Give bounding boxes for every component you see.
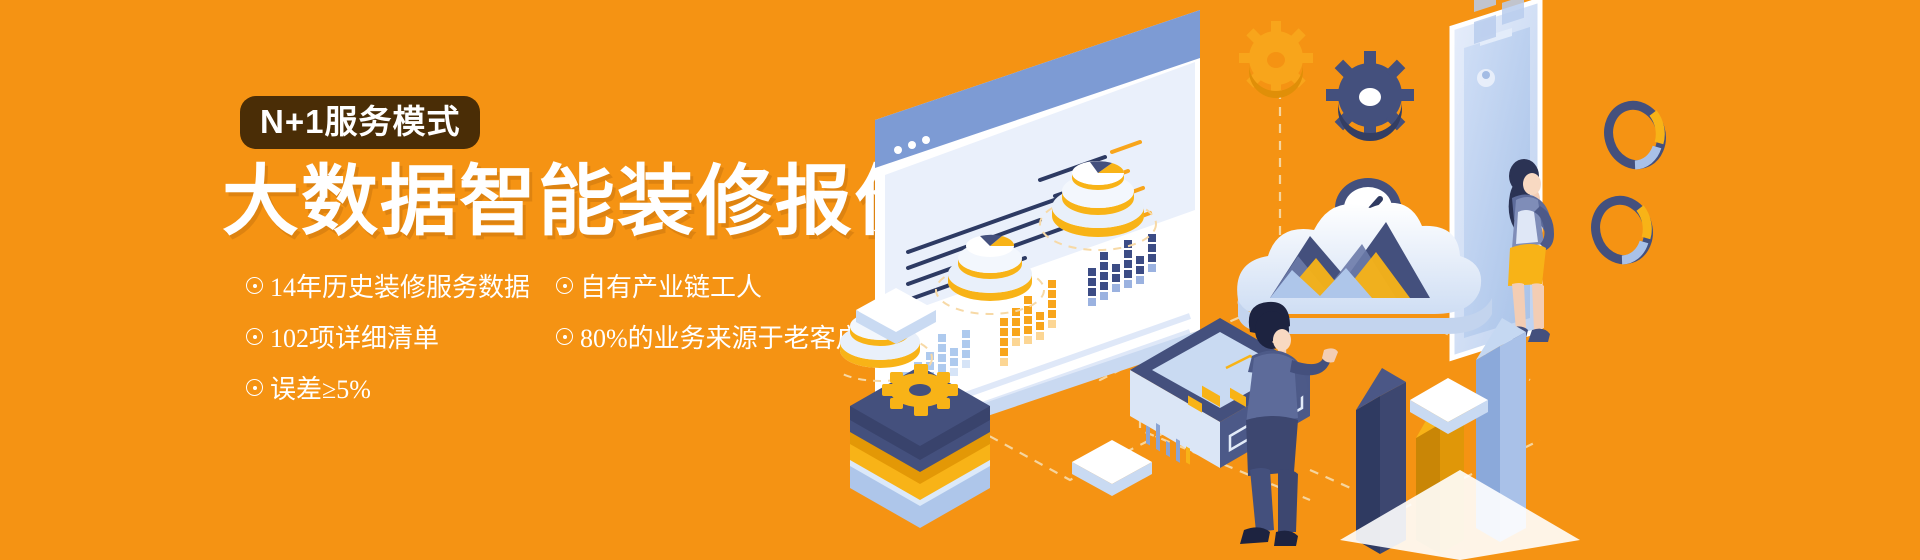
- feature-list-right-column: 自有产业链工人 80%的业务来源于老客户: [556, 275, 862, 377]
- feature-list-left-column: 14年历史装修服务数据 102项详细清单 误差≥5%: [246, 275, 530, 428]
- list-item-label: 自有产业链工人: [580, 275, 762, 301]
- isometric-big-data-illustration: [840, 0, 1920, 560]
- list-item-label: 误差≥5%: [270, 377, 371, 403]
- circled-dot-icon: [246, 328, 263, 345]
- circled-dot-icon: [246, 379, 263, 396]
- donut-ring-arc-upper: [1601, 98, 1669, 171]
- gear-orange: [1239, 21, 1313, 98]
- list-item-label: 14年历史装修服务数据: [270, 275, 530, 301]
- circled-dot-icon: [246, 277, 263, 294]
- donut-ring-arc-lower: [1588, 193, 1656, 266]
- service-model-badge: N+1服务模式: [240, 96, 480, 149]
- list-item: 80%的业务来源于老客户: [556, 326, 862, 352]
- list-item-label: 80%的业务来源于老客户: [580, 326, 862, 352]
- list-item: 14年历史装修服务数据: [246, 275, 530, 301]
- list-item: 102项详细清单: [246, 326, 530, 352]
- list-item: 自有产业链工人: [556, 275, 862, 301]
- gear-navy: [1326, 51, 1414, 141]
- promo-banner: N+1服务模式 大数据智能装修报价 14年历史装修服务数据 102项详细清单 误…: [0, 0, 1920, 560]
- page-title: 大数据智能装修报价: [222, 164, 933, 241]
- list-item-label: 102项详细清单: [270, 326, 439, 352]
- floating-tile-bottom: [1072, 440, 1152, 496]
- circled-dot-icon: [556, 328, 573, 345]
- list-item: 误差≥5%: [246, 377, 530, 403]
- circled-dot-icon: [556, 277, 573, 294]
- service-model-badge-label: N+1服务模式: [260, 103, 460, 140]
